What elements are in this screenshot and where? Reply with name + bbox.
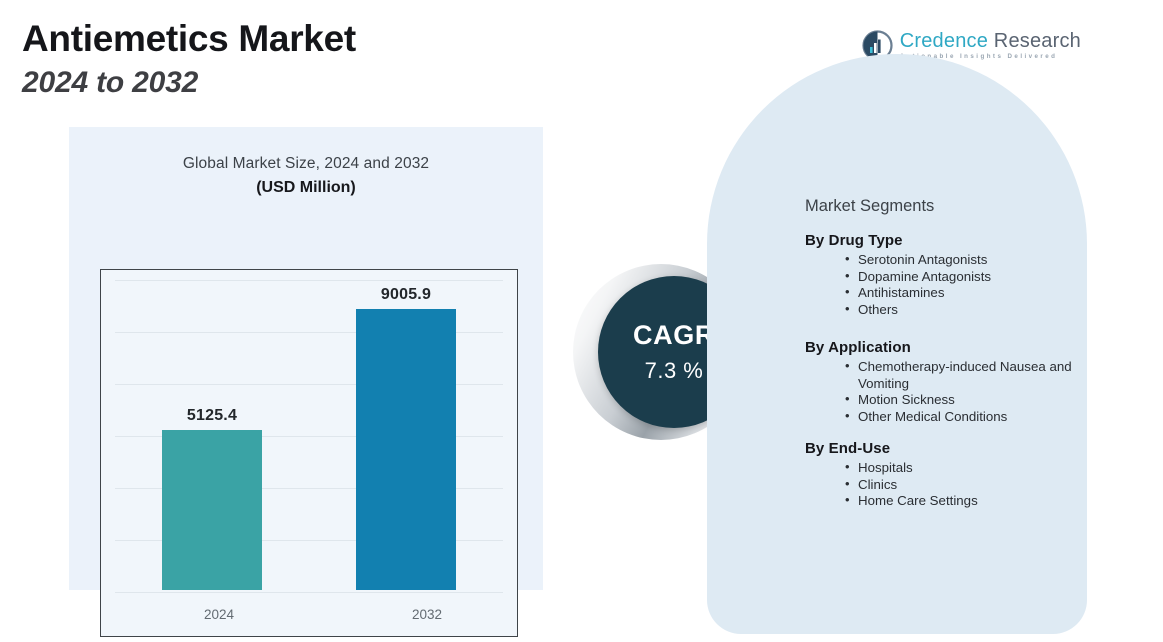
segment-item: Motion Sickness [845,392,1075,409]
segment-group-title: By Application [805,339,1075,356]
chart-plot-area: 5125.49005.9 [115,280,503,590]
segment-item: Chemotherapy-induced Nausea and Vomiting [845,359,1075,392]
gridline-baseline [115,592,503,593]
bar-2032[interactable] [356,309,457,590]
chart-units-label: (USD Million) [69,179,543,197]
page-subtitle: 2024 to 2032 [22,66,198,100]
segment-group-1: By Drug TypeSerotonin AntagonistsDopamin… [805,232,1075,318]
bar-value-label: 9005.9 [356,286,457,304]
market-segments-heading: Market Segments [805,197,934,216]
segment-item: Dopamine Antagonists [845,269,1075,286]
logo-name: Credence Research [900,31,1081,51]
segment-item: Home Care Settings [845,493,1075,510]
cagr-label: CAGR [633,322,715,349]
bar-slot: 5125.4 [115,280,309,590]
segment-group-3: By End-UseHospitalsClinicsHome Care Sett… [805,440,1075,510]
logo-name-rest: Research [988,30,1081,52]
segment-item-list: Serotonin AntagonistsDopamine Antagonist… [805,252,1075,318]
market-segments-panel: Market Segments By Drug TypeSerotonin An… [707,54,1087,634]
segment-item: Antihistamines [845,285,1075,302]
bar-2024[interactable] [162,430,263,590]
bar-value-label: 5125.4 [162,407,263,425]
segment-item: Clinics [845,477,1075,494]
x-axis-label-2032: 2032 [323,607,518,622]
segment-group-title: By End-Use [805,440,1075,457]
chart-panel: Global Market Size, 2024 and 2032 (USD M… [69,127,543,590]
bar-chart: 5125.49005.9 20242032 [100,269,518,637]
segment-item-list: HospitalsClinicsHome Care Settings [805,460,1075,510]
chart-title: Global Market Size, 2024 and 2032 [69,155,543,173]
segment-group-title: By Drug Type [805,232,1075,249]
segment-item: Hospitals [845,460,1075,477]
page-title: Antiemetics Market [22,18,356,60]
segment-item: Other Medical Conditions [845,409,1075,426]
x-axis-label-2024: 2024 [115,607,323,622]
logo-name-accent: Credence [900,30,988,52]
cagr-value: 7.3 % [645,360,704,382]
segment-group-2: By ApplicationChemotherapy-induced Nause… [805,339,1075,425]
bar-slot: 9005.9 [309,280,503,590]
segment-item: Others [845,302,1075,319]
segment-item-list: Chemotherapy-induced Nausea and Vomiting… [805,359,1075,425]
segment-item: Serotonin Antagonists [845,252,1075,269]
